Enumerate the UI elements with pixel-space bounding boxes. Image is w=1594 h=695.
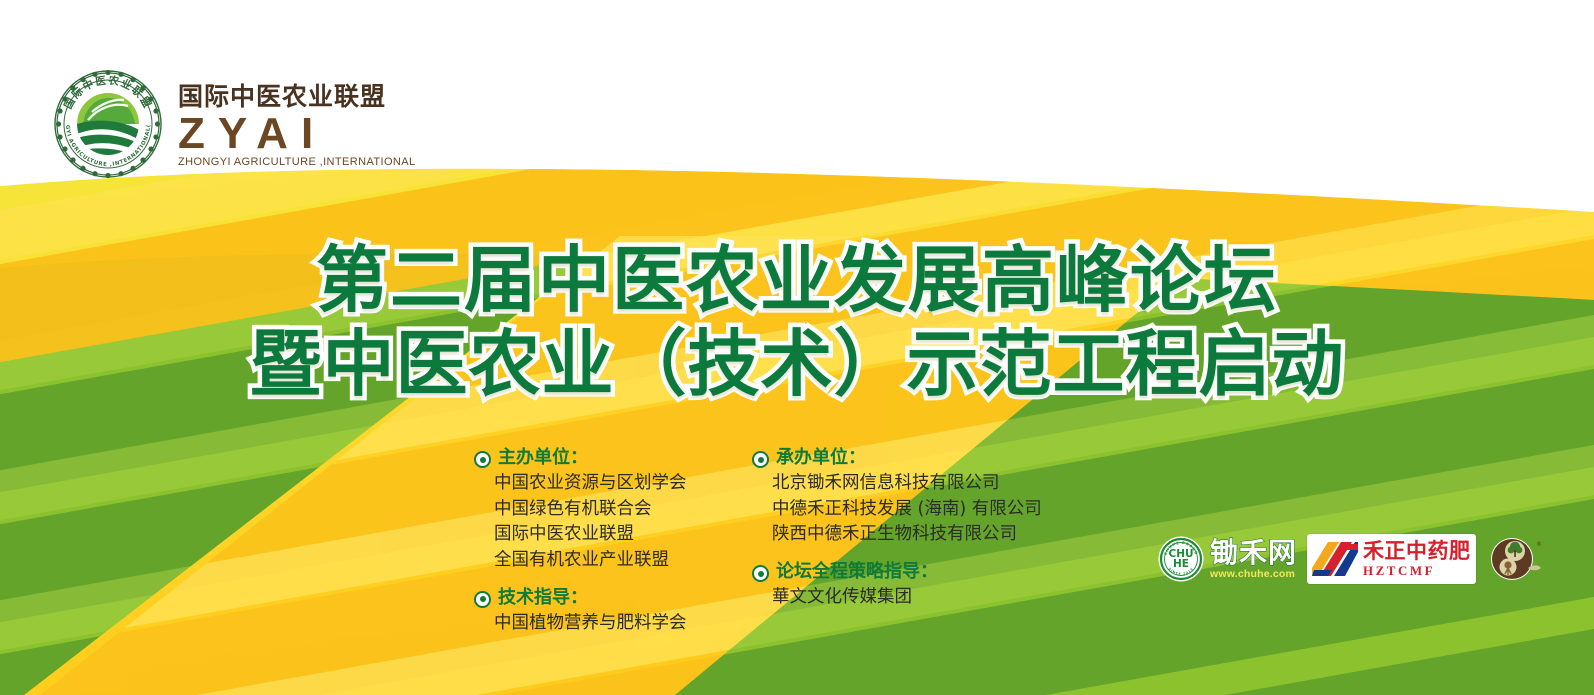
trademark-symbol: ® [1536, 541, 1542, 548]
list-item: 中国植物营养与肥料学会 [494, 611, 704, 637]
list-item: 華文文化传媒集团 [772, 585, 1052, 611]
organizer-group-tech-guidance: 技术指导： 中国植物营养与肥料学会 [474, 586, 704, 637]
list-item: 国际中医农业联盟 [494, 522, 704, 548]
list-item: 中国绿色有机联合会 [494, 497, 704, 523]
list-item: 全国有机农业产业联盟 [494, 548, 704, 574]
green-ring-bullet-icon [474, 451, 491, 468]
list-item: 中国农业资源与区划学会 [494, 471, 704, 497]
group-title-co-host: 承办单位： [776, 446, 866, 470]
list-item: 北京锄禾网信息科技有限公司 [772, 471, 1052, 497]
green-ring-bullet-icon [752, 451, 769, 468]
group-title-tech-guidance: 技术指导： [498, 586, 588, 610]
zyai-wordmark: 国际中医农业联盟 ZYAI ZHONGYI AGRICULTURE ,INTER… [178, 80, 416, 168]
green-ring-bullet-icon [474, 591, 491, 608]
group-title-host: 主办单位： [498, 446, 588, 470]
list-item: 陕西中德禾正生物科技有限公司 [772, 522, 1052, 548]
organizer-column-left: 主办单位： 中国农业资源与区划学会 中国绿色有机联合会 国际中医农业联盟 全国有… [474, 446, 704, 636]
hz-diagonal-slash-icon [1312, 542, 1358, 576]
sponsor-logo-chuhe: CHU HE CHUHE BRAND SINCE 2013 锄禾网 www.ch… [1158, 531, 1297, 587]
sponsor-logo-tree-emblem: ® [1486, 535, 1544, 583]
organizer-column-right: 承办单位： 北京锄禾网信息科技有限公司 中德禾正科技发展 (海南) 有限公司 陕… [752, 446, 1052, 636]
group-title-strategy-guidance: 论坛全程策略指导： [776, 560, 938, 584]
logo-name-en: ZHONGYI AGRICULTURE ,INTERNATIONAL [178, 157, 416, 168]
zyai-circular-seal-icon: 国际中医农业联盟 ZHONGYI AGRICULTURE ,INTERNATIO… [52, 68, 164, 180]
organizer-info: 主办单位： 中国农业资源与区划学会 中国绿色有机联合会 国际中医农业联盟 全国有… [474, 446, 1052, 636]
chuhe-circular-badge-icon: CHU HE CHUHE BRAND SINCE 2013 [1158, 536, 1204, 582]
conference-banner: 国际中医农业联盟 ZHONGYI AGRICULTURE ,INTERNATIO… [0, 0, 1594, 695]
organizer-group-co-host: 承办单位： 北京锄禾网信息科技有限公司 中德禾正科技发展 (海南) 有限公司 陕… [752, 446, 1052, 548]
list-item: 中德禾正科技发展 (海南) 有限公司 [772, 497, 1052, 523]
organizer-group-strategy-guidance: 论坛全程策略指导： 華文文化传媒集团 [752, 560, 1052, 611]
tree-roots-circular-emblem-icon: ® [1486, 535, 1544, 583]
sponsor-name-chuhe: 锄禾网 [1210, 539, 1297, 567]
sponsor-logo-strip: CHU HE CHUHE BRAND SINCE 2013 锄禾网 www.ch… [1158, 531, 1544, 587]
zyai-logo-lockup: 国际中医农业联盟 ZHONGYI AGRICULTURE ,INTERNATIO… [52, 68, 416, 180]
organizer-group-host: 主办单位： 中国农业资源与区划学会 中国绿色有机联合会 国际中医农业联盟 全国有… [474, 446, 704, 574]
sponsor-name-hztcmf: 禾正中药肥 [1363, 541, 1471, 562]
logo-acronym: ZYAI [178, 112, 416, 156]
sponsor-abbr-hztcmf: HZTCMF [1363, 564, 1471, 577]
sponsor-logo-hztcmf: 禾正中药肥 HZTCMF [1307, 534, 1476, 584]
sponsor-url-chuhe: www.chuhe.com [1210, 569, 1297, 580]
logo-name-cn: 国际中医农业联盟 [178, 84, 416, 109]
svg-text:HE: HE [1173, 558, 1189, 570]
green-ring-bullet-icon [752, 565, 769, 582]
